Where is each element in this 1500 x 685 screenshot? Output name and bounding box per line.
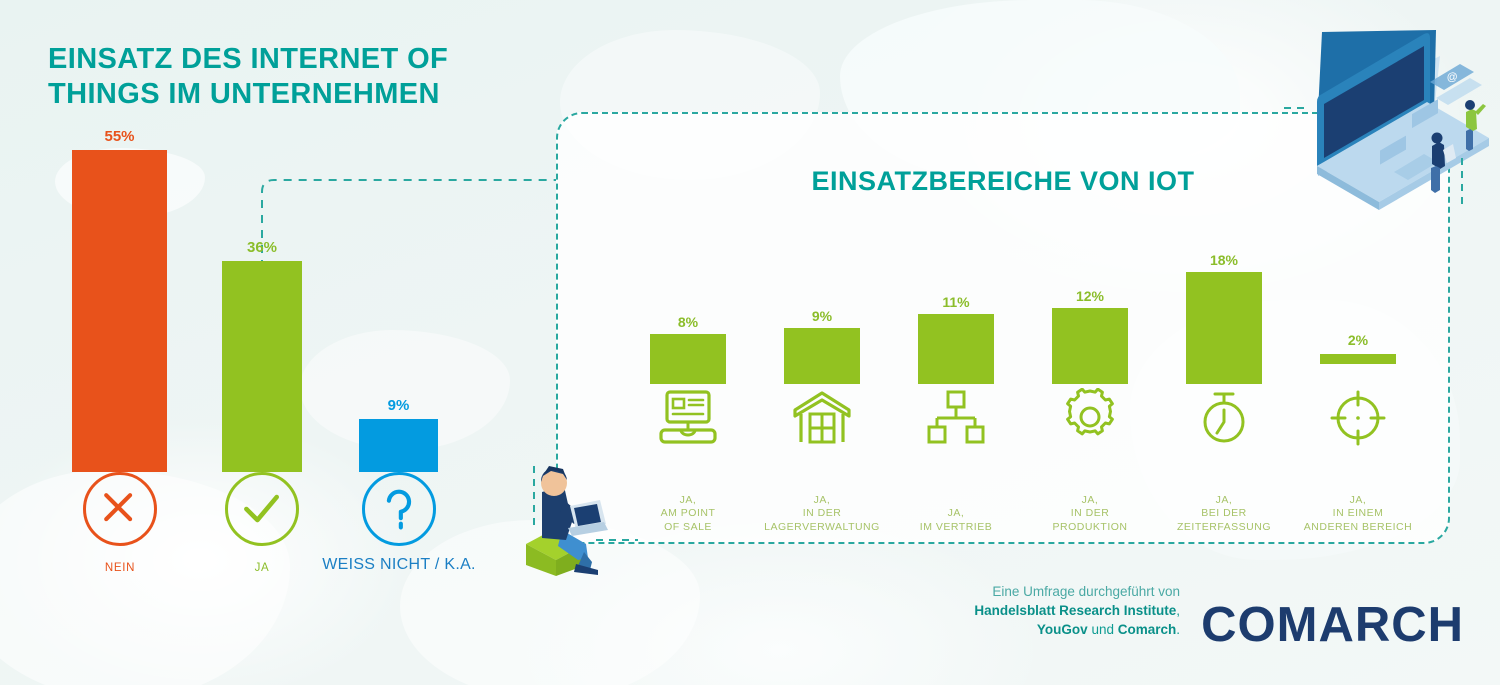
attribution-institute: Handelsblatt Research Institute <box>974 603 1176 618</box>
bar-rect-anderer-bereich <box>1320 354 1396 364</box>
check-circle-icon <box>225 472 299 546</box>
bar-label-produktion: Ja, in der Produktion <box>1016 494 1164 535</box>
bar-value-point-of-sale: 8% <box>620 314 756 330</box>
comarch-logo: COMARCH <box>1201 597 1464 653</box>
bar-label-lagerverwaltung: Ja, in der Lagerverwaltung <box>748 494 896 535</box>
label-line: Lagerverwaltung <box>748 521 896 535</box>
bar-value-vertrieb: 11% <box>888 294 1024 310</box>
bar-rect-zeiterfassung <box>1186 272 1262 384</box>
attribution-line-3: YouGov und Comarch. <box>974 620 1180 639</box>
label-line: Ja, <box>1284 494 1432 508</box>
bar-rect-vertrieb <box>918 314 994 384</box>
bar-label-weiss-nicht: Weiß nicht / k.A. <box>322 556 476 574</box>
bar-group-nein: 55% <box>72 150 167 472</box>
seated-person-with-laptop-illustration <box>508 466 638 576</box>
label-line: in einem <box>1284 507 1432 521</box>
bar-rect-nein <box>72 150 167 472</box>
bar-group-produktion: 12% Ja, in der Produktion <box>1022 284 1158 534</box>
distribution-tree-icon <box>925 388 987 446</box>
label-line: Ja, <box>1150 494 1298 508</box>
label-line: im Vertrieb <box>882 521 1030 535</box>
label-line: Ja, <box>882 507 1030 521</box>
infographic-canvas: Einsatz des Internet of Things im Untern… <box>0 0 1500 685</box>
gear-icon <box>1059 388 1121 446</box>
attribution-comarch: Comarch <box>1118 622 1177 637</box>
cross-circle-icon <box>83 472 157 546</box>
bar-group-lagerverwaltung: 9% Ja, in der Lagerverwaltung <box>754 284 890 534</box>
attribution-und: und <box>1088 622 1118 637</box>
bar-group-point-of-sale: 8% Ja, am Point <box>620 284 756 534</box>
bar-group-vertrieb: 11% Ja, im Vertrieb <box>888 284 1024 534</box>
bar-value-anderer-bereich: 2% <box>1290 332 1426 348</box>
survey-attribution: Eine Umfrage durchgeführt von Handelsbla… <box>974 582 1180 639</box>
label-line: anderen Bereich <box>1284 521 1432 535</box>
label-line: Produktion <box>1016 521 1164 535</box>
crosshair-icon <box>1327 388 1389 446</box>
bar-rect-ja <box>222 261 302 472</box>
bar-value-lagerverwaltung: 9% <box>754 308 890 324</box>
bar-rect-point-of-sale <box>650 334 726 384</box>
warehouse-icon <box>791 388 853 446</box>
question-circle-icon <box>362 472 436 546</box>
bar-rect-lagerverwaltung <box>784 328 860 384</box>
label-line: Ja, <box>1016 494 1164 508</box>
svg-text:@: @ <box>1446 71 1458 84</box>
bar-group-zeiterfassung: 18% Ja, bei der Zeiterfassung <box>1156 284 1292 534</box>
attribution-comma: , <box>1176 603 1180 618</box>
label-line: Ja, <box>748 494 896 508</box>
bar-value-produktion: 12% <box>1022 288 1158 304</box>
bar-value-nein: 55% <box>72 128 167 145</box>
bar-rect-weiss-nicht <box>359 419 438 472</box>
label-line: Zeiterfassung <box>1150 521 1298 535</box>
stopwatch-icon <box>1193 388 1255 446</box>
attribution-period: . <box>1176 622 1180 637</box>
page-title: Einsatz des Internet of Things im Untern… <box>48 42 568 112</box>
attribution-yougov: YouGov <box>1037 622 1088 637</box>
bar-group-anderer-bereich: 2% Ja, in einem anderen Bereich <box>1290 284 1426 534</box>
bar-rect-produktion <box>1052 308 1128 384</box>
bar-label-vertrieb: Ja, im Vertrieb <box>882 507 1030 534</box>
left-bar-chart: 55% Nein 36% Ja 9% <box>40 150 510 590</box>
bar-group-weiss-nicht: 9% <box>359 419 438 472</box>
label-line: in der <box>748 507 896 521</box>
bar-label-nein: Nein <box>105 562 135 574</box>
label-line: bei der <box>1150 507 1298 521</box>
bar-value-zeiterfassung: 18% <box>1156 252 1292 268</box>
bar-label-anderer-bereich: Ja, in einem anderen Bereich <box>1284 494 1432 535</box>
bar-value-weiss-nicht: 9% <box>359 397 438 414</box>
bar-group-ja: 36% <box>222 261 302 472</box>
bar-value-ja: 36% <box>222 239 302 256</box>
attribution-line-2: Handelsblatt Research Institute, <box>974 601 1180 620</box>
bar-label-zeiterfassung: Ja, bei der Zeiterfassung <box>1150 494 1298 535</box>
attribution-line-1: Eine Umfrage durchgeführt von <box>974 582 1180 601</box>
bar-label-ja: Ja <box>255 562 270 574</box>
pos-terminal-icon <box>657 388 719 446</box>
label-line: in der <box>1016 507 1164 521</box>
isometric-laptop-illustration: @ <box>1284 16 1496 212</box>
right-bar-chart: 8% Ja, am Point <box>576 234 1430 534</box>
